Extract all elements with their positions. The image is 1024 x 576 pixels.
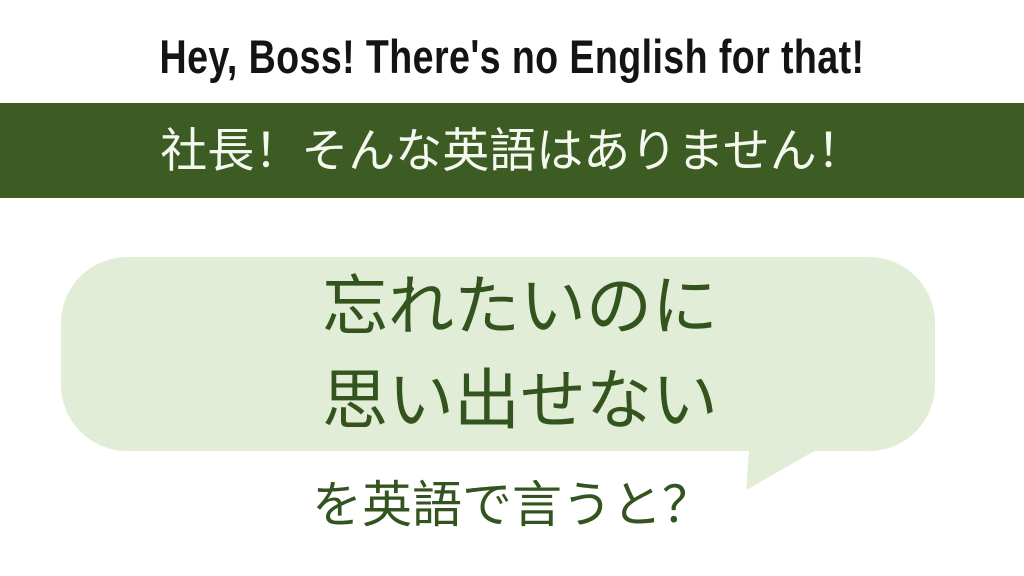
english-headline: Hey, Boss! There's no English for that! — [102, 20, 921, 92]
bubble-line-2: 思い出せない — [322, 354, 718, 448]
bubble-line-1: 忘れたいのに — [322, 260, 718, 354]
tagline-question: を英語で言うと？ — [0, 472, 1024, 538]
slide-canvas: Hey, Boss! There's no English for that! … — [0, 0, 1024, 576]
speech-bubble-text: 忘れたいのに 思い出せない — [61, 257, 935, 451]
japanese-title-text: 社長！そんな英語はありません！ — [160, 127, 864, 174]
japanese-title-band: 社長！そんな英語はありません！ — [0, 103, 1024, 198]
